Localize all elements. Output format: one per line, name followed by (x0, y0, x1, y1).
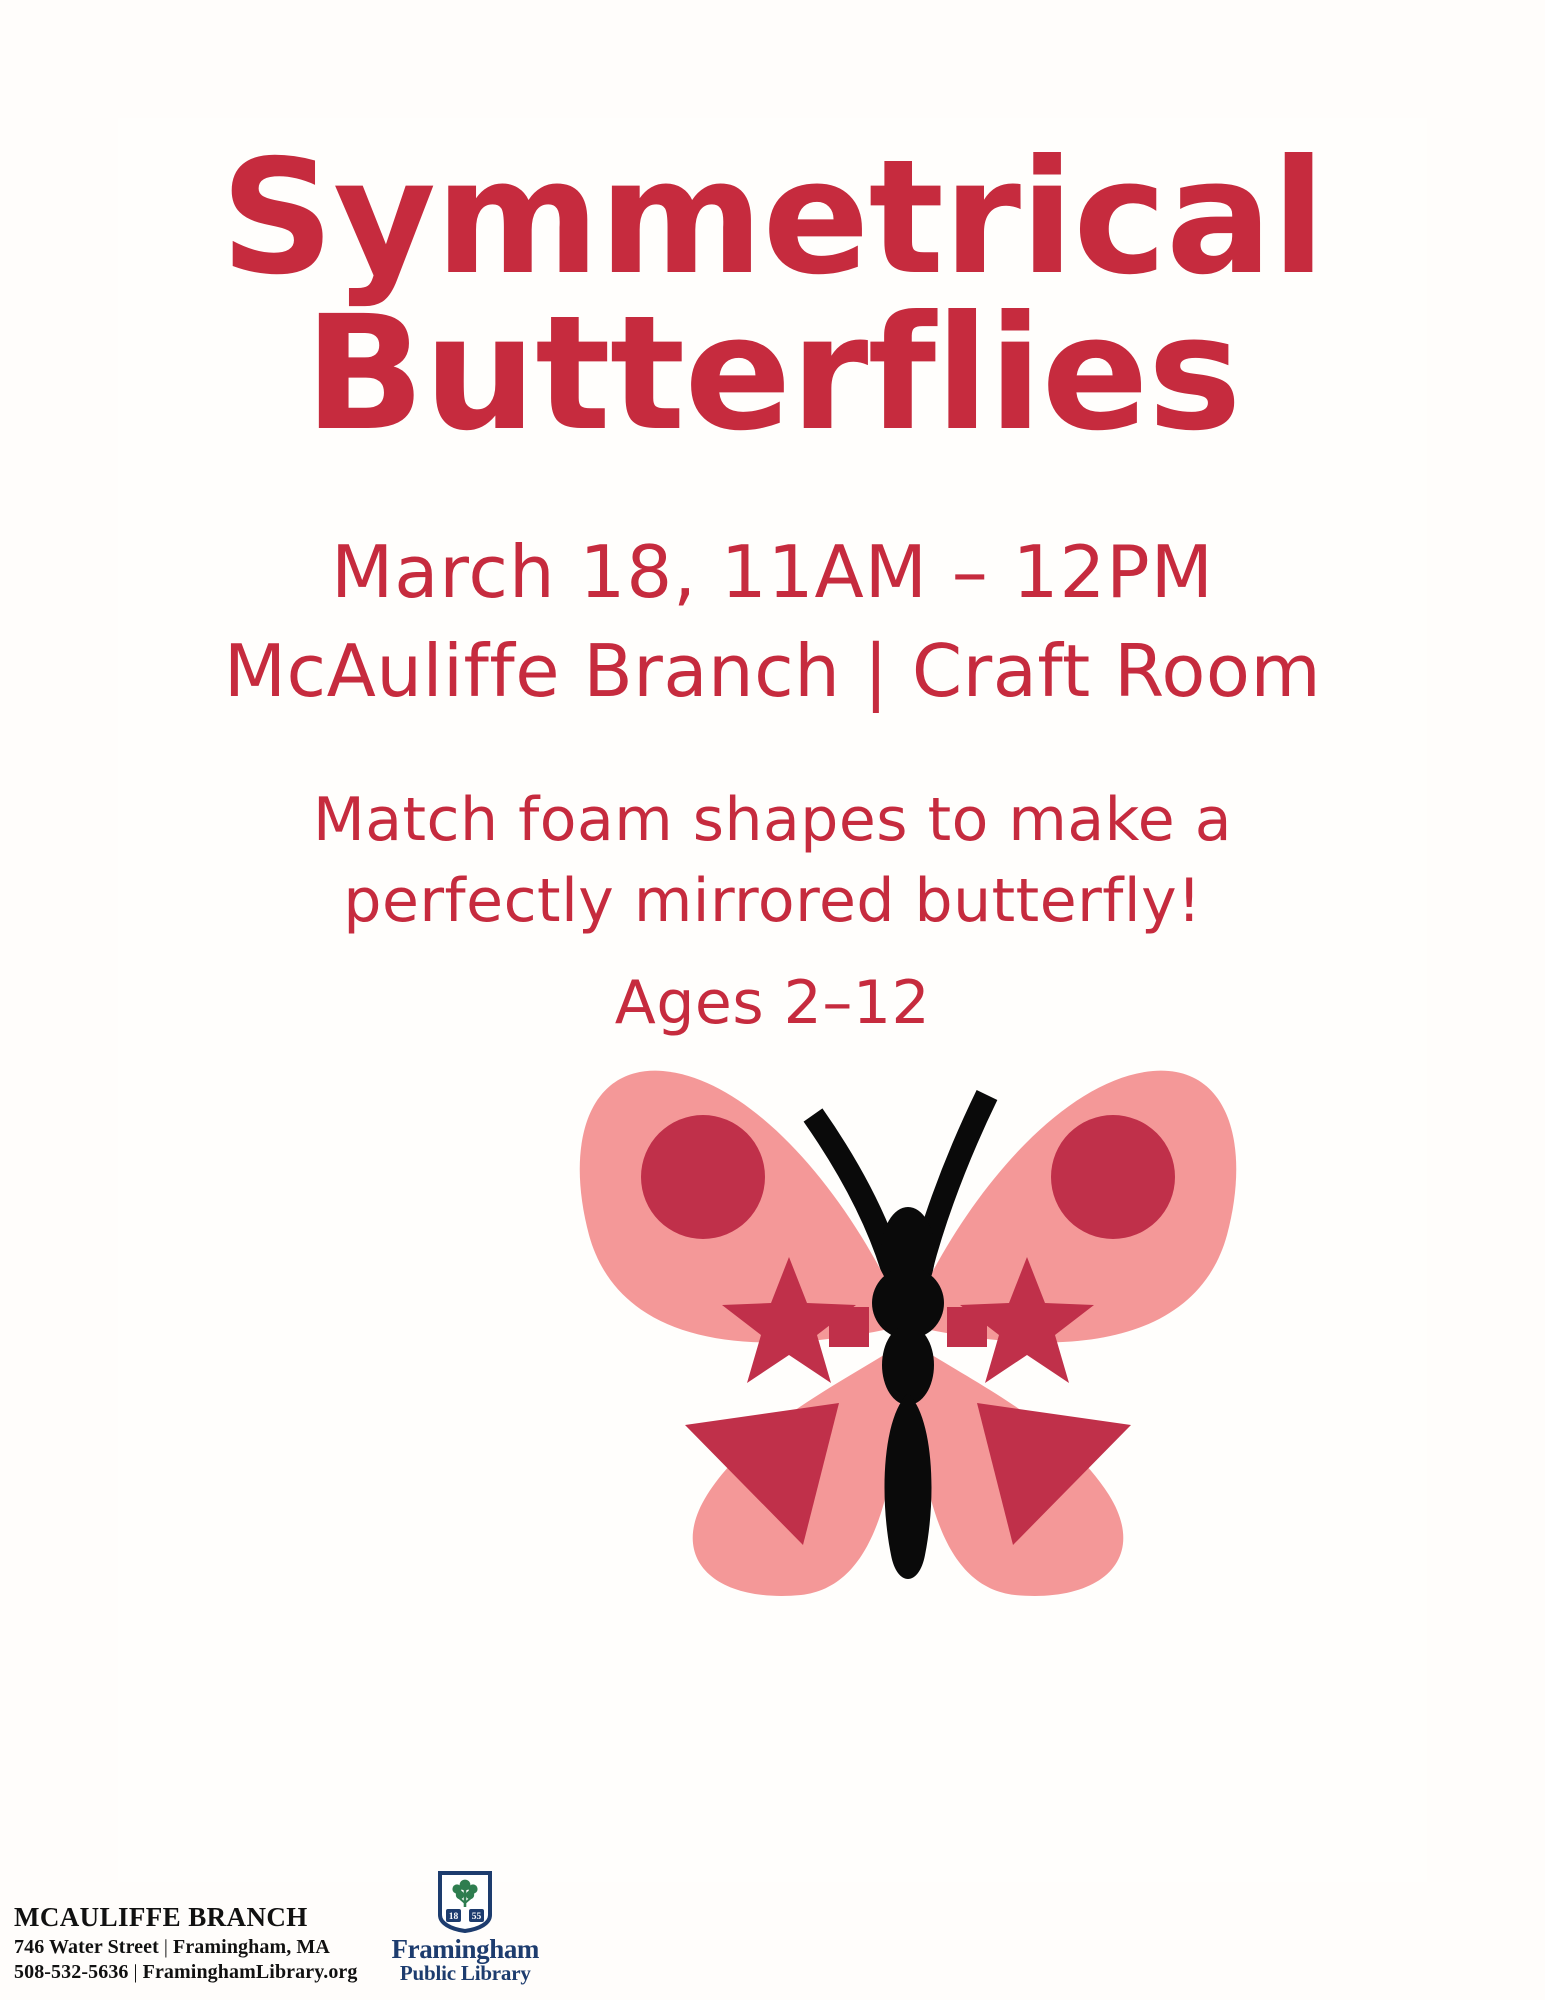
footer-separator-2: | (129, 1961, 143, 1983)
footer-city-state: Framingham, MA (173, 1936, 330, 1958)
title-line-2: Butterflies (0, 296, 1545, 452)
framingham-public-library-logo[interactable]: 18 55 Framingham Public Library (392, 1871, 540, 1986)
event-description: Match foam shapes to make a perfectly mi… (0, 780, 1545, 1038)
age-range: Ages 2–12 (0, 968, 1545, 1038)
event-location: McAuliffe Branch | Craft Room (0, 629, 1545, 714)
logo-wordmark-line-2: Public Library (392, 1963, 540, 1984)
footer: MCAULIFFE BRANCH 746 Water Street|Framin… (14, 1871, 539, 1986)
event-date-time: March 18, 11AM – 12PM (0, 530, 1545, 615)
poster-canvas: Symmetrical Butterflies March 18, 11AM –… (0, 0, 1545, 2000)
page-title: Symmetrical Butterflies (0, 140, 1545, 453)
seal-year-left: 18 (449, 1912, 459, 1922)
footer-separator-1: | (159, 1936, 173, 1958)
description-line-2: perfectly mirrored butterfly! (0, 861, 1545, 942)
event-details: March 18, 11AM – 12PM McAuliffe Branch |… (0, 530, 1545, 714)
logo-wordmark-line-1: Framingham (392, 1936, 540, 1963)
footer-website[interactable]: FraminghamLibrary.org (143, 1961, 358, 1983)
footer-branch-info: MCAULIFFE BRANCH 746 Water Street|Framin… (14, 1900, 358, 1986)
footer-address: 746 Water Street (14, 1936, 159, 1958)
library-seal-icon: 18 55 (436, 1871, 494, 1933)
seal-year-right: 55 (472, 1912, 482, 1922)
description-line-1: Match foam shapes to make a (0, 780, 1545, 861)
footer-phone: 508-532-5636 (14, 1961, 129, 1983)
logo-wordmark: Framingham Public Library (392, 1936, 540, 1984)
footer-branch-name: MCAULIFFE BRANCH (14, 1900, 358, 1935)
footer-contact-row: 508-532-5636|FraminghamLibrary.org (14, 1960, 358, 1986)
footer-address-row: 746 Water Street|Framingham, MA (14, 1935, 358, 1961)
